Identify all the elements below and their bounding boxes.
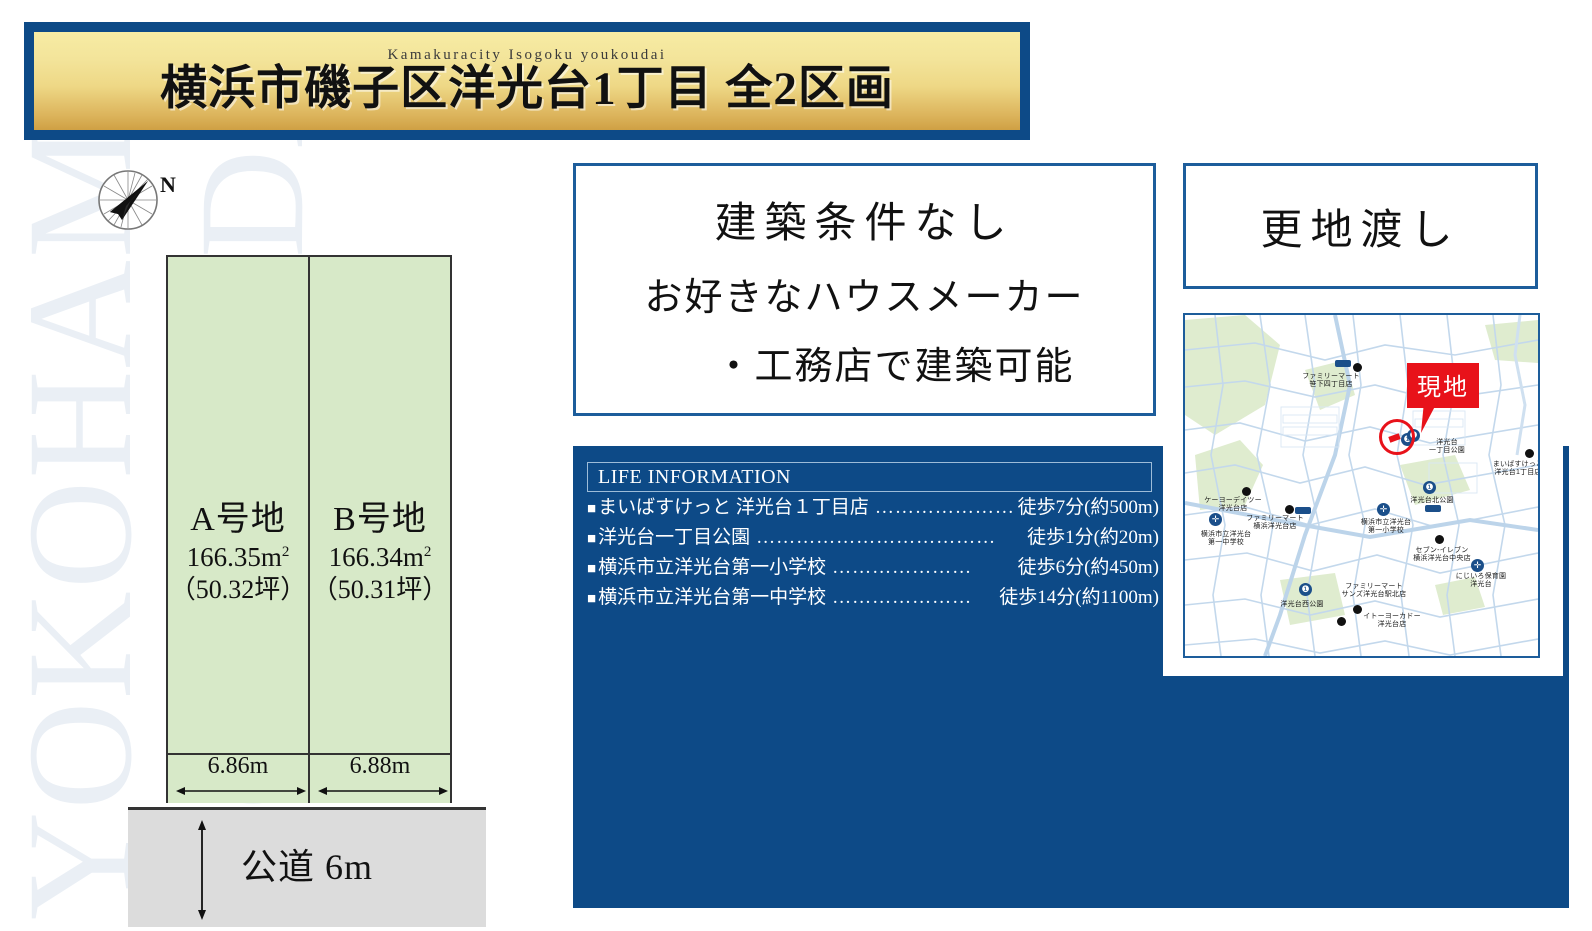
building-condition-box: 建築条件なし お好きなハウスメーカー ・工務店で建築可能 <box>573 163 1156 416</box>
station-marker-icon <box>1295 507 1311 514</box>
vacant-land-box: 更地渡し <box>1183 163 1538 289</box>
poi-label: にじいろ保育園洋光台 <box>1437 573 1525 589</box>
list-item: ■ 洋光台一丁目公園 ……………………………… 徒歩1分(約20m) <box>587 528 1159 547</box>
poi-label: 横浜市立洋光台第一小学校 <box>1343 519 1429 535</box>
header-banner: Kamakuracity Isogoku youkoudai 横浜市磯子区洋光台… <box>24 22 1030 140</box>
poi-label: イトーヨーカドー洋光台店 <box>1345 613 1439 629</box>
lot-b-width-dim: 6.88m <box>309 755 452 803</box>
lot-b-width-arrow-icon <box>318 786 448 796</box>
list-item-distance: 徒歩1分(約20m) <box>1027 528 1159 547</box>
lot-a-area-value: 166.35m <box>187 542 282 572</box>
list-item-bullet-icon: ■ <box>587 502 596 517</box>
list-item-name: 横浜市立洋光台第一小学校 <box>598 558 826 577</box>
poi-label: ファミリーマートサンズ洋光台駅北店 <box>1321 583 1427 599</box>
location-map[interactable]: ✛ ✛ ✛ ❶ ❶ ❶ ファミリーマート笹下四丁目店 ケーヨーデイツー洋光台店 … <box>1183 313 1540 658</box>
list-item: ■ 横浜市立洋光台第一小学校 ………………… 徒歩6分(約450m) <box>587 558 1159 577</box>
header-banner-inner: Kamakuracity Isogoku youkoudai 横浜市磯子区洋光台… <box>34 32 1020 130</box>
poi-label: ファミリーマート笹下四丁目店 <box>1281 373 1381 389</box>
plot-diagram: A号地 166.35m2 （50.32坪） B号地 166.34m2 （50.3… <box>120 255 520 875</box>
list-item-distance: 徒歩14分(約1100m) <box>999 588 1159 607</box>
lot-a-width-label: 6.86m <box>168 753 308 780</box>
road-label: 公道 6m <box>128 838 486 890</box>
lot-a-width-dim: 6.86m <box>166 755 309 803</box>
list-item-dots: ………………… <box>832 588 993 607</box>
list-item-name: 洋光台一丁目公園 <box>598 528 750 547</box>
lot-b-name: B号地 <box>310 499 450 542</box>
list-item: ■ まいばすけっと 洋光台１丁目店 …………………… 徒歩7分(約500m) <box>587 498 1159 517</box>
compass-icon <box>96 168 160 232</box>
compass-rose: N <box>96 168 182 238</box>
lot-b-area-unit-sup: 2 <box>424 544 432 560</box>
list-item-name: まいばすけっと 洋光台１丁目店 <box>598 498 869 517</box>
poi-label: 洋光台北公園 <box>1393 497 1471 505</box>
list-item-dots: …………………… <box>875 498 1012 517</box>
poi-dot <box>1525 449 1534 458</box>
lot-b-area: 166.34m2 <box>310 541 450 573</box>
compass-north-label: N <box>160 172 176 198</box>
list-item-distance: 徒歩7分(約500m) <box>1018 498 1159 517</box>
list-item-dots: ………………… <box>832 558 1011 577</box>
poi-label: 横浜市立洋光台第一中学校 <box>1185 531 1267 547</box>
school-badge-icon: ✛ <box>1377 503 1390 516</box>
list-item-bullet-icon: ■ <box>587 592 596 607</box>
poi-dot <box>1242 487 1251 496</box>
lot-a-tsubo: （50.32坪） <box>168 574 308 605</box>
poi-label: まいばすけっと洋光台1丁目店 <box>1477 461 1540 477</box>
lot-b-width-label: 6.88m <box>310 753 450 780</box>
lot-container: A号地 166.35m2 （50.32坪） B号地 166.34m2 （50.3… <box>166 255 452 755</box>
life-information-list: ■ まいばすけっと 洋光台１丁目店 …………………… 徒歩7分(約500m) ■… <box>587 498 1159 618</box>
building-condition-line2: お好きなハウスメーカー <box>644 266 1084 321</box>
lot-width-dimensions: 6.86m 6.88m <box>166 755 452 803</box>
page-title: 横浜市磯子区洋光台1丁目 全2区画 <box>160 65 894 114</box>
poi-label: 洋光台西公園 <box>1263 601 1341 609</box>
list-item-dots: ……………………………… <box>756 528 1021 547</box>
lot-b: B号地 166.34m2 （50.31坪） <box>308 257 450 753</box>
poi-dot <box>1353 363 1362 372</box>
station-marker-icon <box>1425 505 1441 512</box>
header-subtitle: Kamakuracity Isogoku youkoudai <box>387 47 666 64</box>
list-item-bullet-icon: ■ <box>587 562 596 577</box>
location-map-card: ✛ ✛ ✛ ❶ ❶ ❶ ファミリーマート笹下四丁目店 ケーヨーデイツー洋光台店 … <box>1163 294 1563 676</box>
park-badge-icon: ❶ <box>1299 583 1312 596</box>
lot-a-name: A号地 <box>168 499 308 542</box>
vacant-land-text: 更地渡し <box>1260 196 1460 257</box>
lot-b-area-value: 166.34m <box>329 542 424 572</box>
life-information-heading: LIFE INFORMATION <box>588 466 791 489</box>
list-item-bullet-icon: ■ <box>587 532 596 547</box>
lot-a: A号地 166.35m2 （50.32坪） <box>168 257 308 753</box>
poi-label: セブン-イレブン横浜洋光台中央店 <box>1391 547 1493 563</box>
lot-b-tsubo: （50.31坪） <box>310 574 450 605</box>
lot-a-area-unit-sup: 2 <box>282 544 290 560</box>
park-badge-icon: ❶ <box>1423 481 1436 494</box>
genchi-label: 現地 <box>1407 363 1479 408</box>
lot-a-area: 166.35m2 <box>168 541 308 573</box>
lot-a-width-arrow-icon <box>176 786 306 796</box>
building-condition-line1: 建築条件なし <box>714 189 1014 250</box>
station-marker-icon <box>1335 360 1351 367</box>
building-condition-line3: ・工務店で建築可能 <box>654 335 1074 390</box>
list-item: ■ 横浜市立洋光台第一中学校 ………………… 徒歩14分(約1100m) <box>587 588 1159 607</box>
poi-label: ケーヨーデイツー洋光台店 <box>1187 497 1279 513</box>
public-road: 公道 6m <box>128 807 486 927</box>
list-item-name: 横浜市立洋光台第一中学校 <box>598 588 826 607</box>
list-item-distance: 徒歩6分(約450m) <box>1018 558 1159 577</box>
poi-dot <box>1285 505 1294 514</box>
school-badge-icon: ✛ <box>1209 513 1222 526</box>
poi-dot <box>1435 535 1444 544</box>
lot-b-text: B号地 166.34m2 （50.31坪） <box>310 499 450 605</box>
poi-label: ファミリーマート横浜洋光台店 <box>1227 515 1323 531</box>
lot-a-text: A号地 166.35m2 （50.32坪） <box>168 499 308 605</box>
life-information-heading-box: LIFE INFORMATION <box>587 462 1152 492</box>
